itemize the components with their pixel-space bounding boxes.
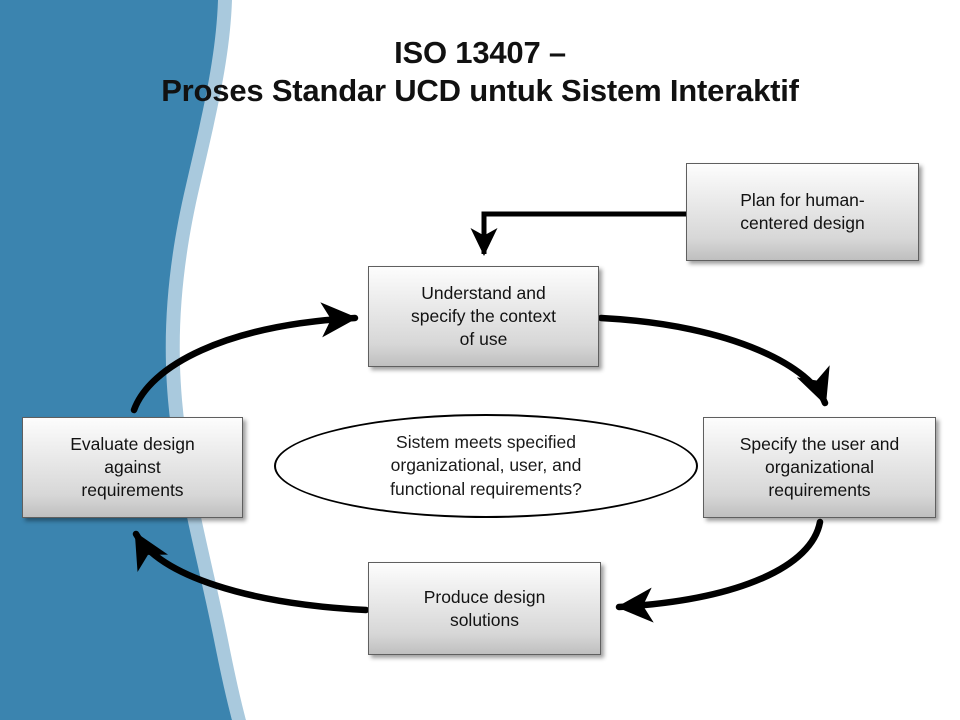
process-box-plan[interactable]: Plan for human- centered design: [686, 163, 919, 261]
context-line-2: specify the context: [411, 305, 556, 328]
slide-canvas: ISO 13407 – Proses Standar UCD untuk Sis…: [0, 0, 960, 720]
connector-plan-to-context: [484, 214, 686, 254]
produce-line-2: solutions: [424, 609, 546, 632]
plan-line-1: Plan for human-: [740, 189, 865, 212]
specify-line-2: organizational: [740, 456, 900, 479]
connector-produce-to-evaluate: [136, 534, 366, 610]
evaluate-line-1: Evaluate design: [70, 433, 195, 456]
produce-line-1: Produce design: [424, 586, 546, 609]
context-line-3: of use: [411, 328, 556, 351]
connector-evaluate-to-context: [134, 318, 355, 410]
specify-line-1: Specify the user and: [740, 433, 900, 456]
process-box-produce-solutions[interactable]: Produce design solutions: [368, 562, 601, 655]
context-line-1: Understand and: [411, 282, 556, 305]
process-box-produce-solutions-text: Produce design solutions: [424, 586, 546, 632]
evaluate-line-3: requirements: [70, 479, 195, 502]
decision-line-3: functional requirements?: [390, 478, 582, 501]
evaluate-line-2: against: [70, 456, 195, 479]
specify-line-3: requirements: [740, 479, 900, 502]
page-title-line-1: ISO 13407 –: [0, 34, 960, 72]
page-title: ISO 13407 – Proses Standar UCD untuk Sis…: [0, 34, 960, 110]
process-box-evaluate-design[interactable]: Evaluate design against requirements: [22, 417, 243, 518]
process-box-evaluate-design-text: Evaluate design against requirements: [70, 433, 195, 501]
process-box-specify-requirements[interactable]: Specify the user and organizational requ…: [703, 417, 936, 518]
process-box-plan-text: Plan for human- centered design: [740, 189, 865, 235]
process-box-understand-context-text: Understand and specify the context of us…: [411, 282, 556, 350]
decision-line-1: Sistem meets specified: [390, 431, 582, 454]
decision-ellipse: Sistem meets specified organizational, u…: [274, 414, 698, 518]
decision-line-2: organizational, user, and: [390, 454, 582, 477]
process-box-understand-context[interactable]: Understand and specify the context of us…: [368, 266, 599, 367]
page-title-line-2: Proses Standar UCD untuk Sistem Interakt…: [0, 72, 960, 110]
process-box-specify-requirements-text: Specify the user and organizational requ…: [740, 433, 900, 501]
connector-context-to-specify: [601, 318, 825, 403]
plan-line-2: centered design: [740, 212, 865, 235]
connector-specify-to-produce: [619, 522, 820, 607]
decision-ellipse-text: Sistem meets specified organizational, u…: [390, 431, 582, 501]
